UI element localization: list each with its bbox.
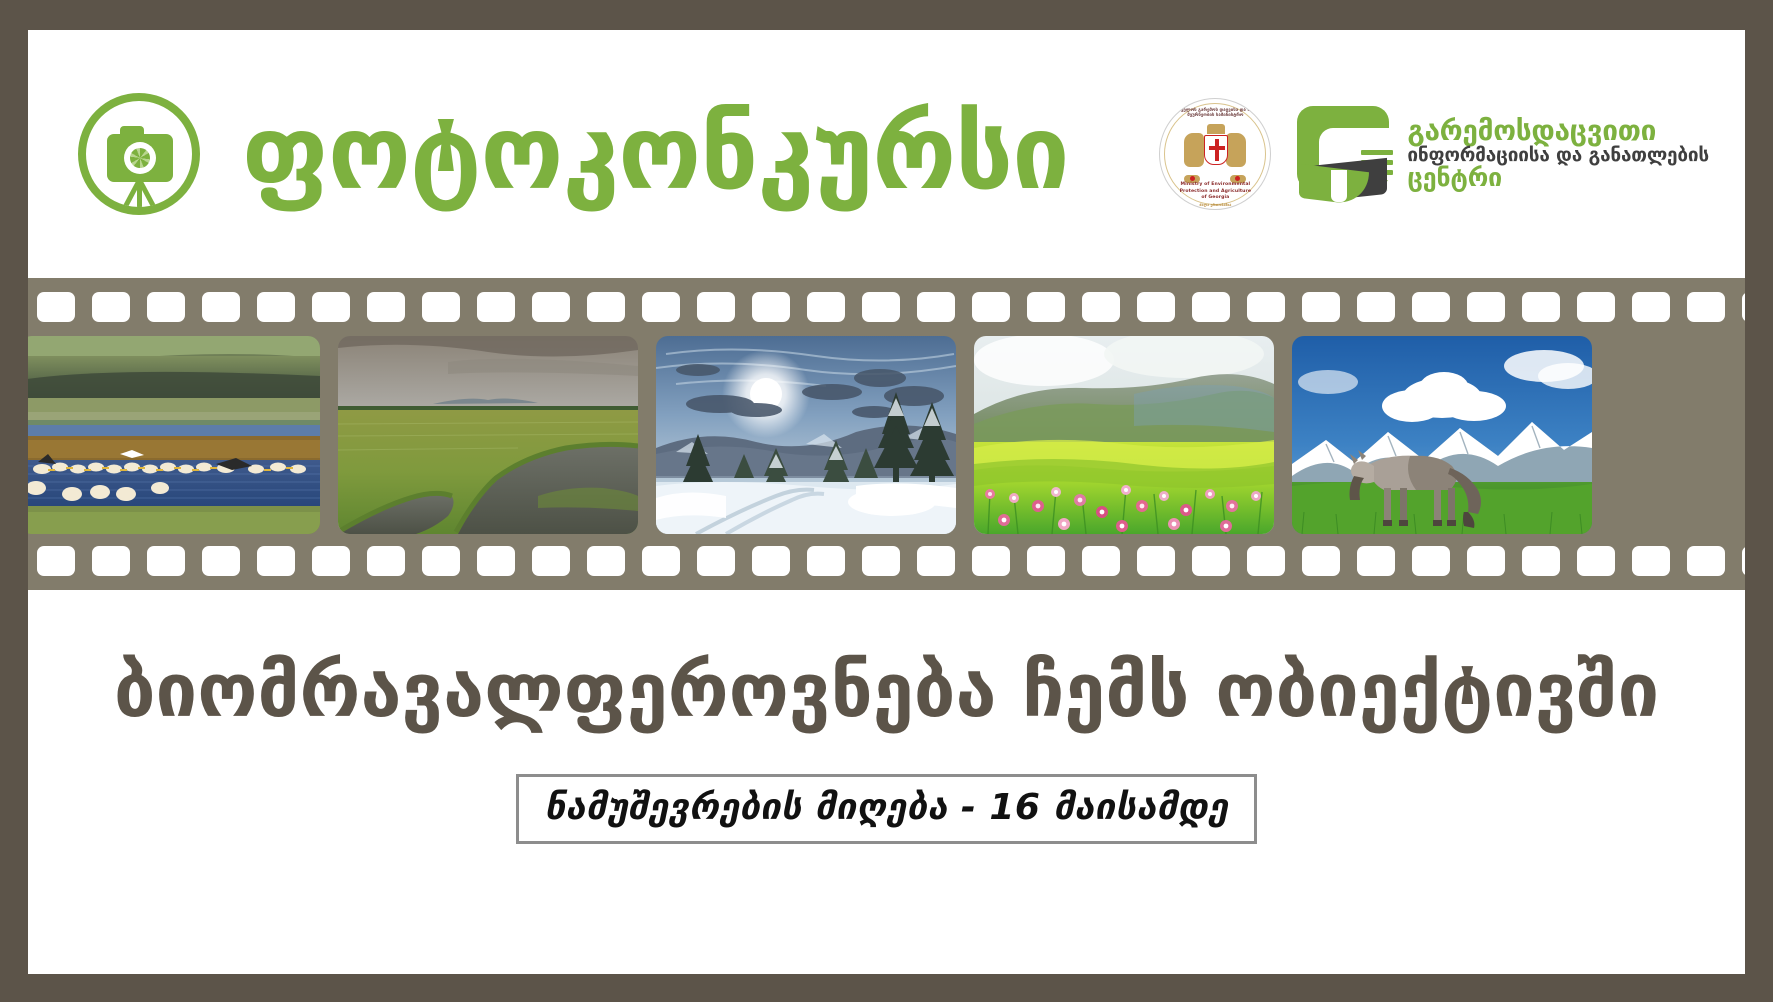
- perforation-bottom-11: [587, 546, 625, 576]
- perforation-top-29: [1577, 292, 1615, 322]
- book-in-square-logo-icon: [1297, 106, 1395, 202]
- perforation-top-5: [257, 292, 295, 322]
- perforation-bottom-5: [257, 546, 295, 576]
- perforation-top-26: [1412, 292, 1450, 322]
- perforation-bottom-10: [532, 546, 570, 576]
- photo-frame-pelicans-on-lake[interactable]: [28, 336, 320, 534]
- perforation-top-3: [147, 292, 185, 322]
- perforation-bottom-20: [1082, 546, 1120, 576]
- deadline-text: ნამუშევრების მიღება - 16 მაისამდე: [545, 787, 1229, 828]
- center-logo-line-3: ცენტრი: [1407, 165, 1709, 191]
- perforation-top-24: [1302, 292, 1340, 322]
- poster-canvas: ფოტოკონკურსი საქართველოს გარემოს დაცვისა…: [28, 30, 1745, 974]
- camera-on-tripod-icon: [78, 93, 200, 215]
- perforation-bottom-32: [1742, 546, 1745, 576]
- seal-english-text: Ministry of Environmental Protection and…: [1160, 182, 1270, 201]
- perforation-top-10: [532, 292, 570, 322]
- photo-frame-horse-grazing-snow-mountains[interactable]: [1292, 336, 1592, 534]
- perforation-bottom-19: [1027, 546, 1065, 576]
- environmental-center-logo: გარემოსდაცვითი ინფორმაციისა და განათლები…: [1297, 106, 1709, 202]
- georgia-ministry-seal-icon: საქართველოს გარემოს დაცვისა და სოფლის მე…: [1159, 98, 1271, 210]
- deadline-box: ნამუშევრების მიღება - 16 მაისამდე: [516, 774, 1258, 844]
- perforation-top-9: [477, 292, 515, 322]
- perforation-top-25: [1357, 292, 1395, 322]
- perforation-top-11: [587, 292, 625, 322]
- perforation-top-23: [1247, 292, 1285, 322]
- photo-frame-snowy-road-pine-forest[interactable]: [656, 336, 956, 534]
- perforation-top-15: [807, 292, 845, 322]
- photo-frame-wetland-river-meadow[interactable]: [338, 336, 638, 534]
- perforation-top-2: [92, 292, 130, 322]
- seal-cross-horizontal: [1209, 146, 1225, 150]
- perforation-bottom-27: [1467, 546, 1505, 576]
- perforation-bottom-29: [1577, 546, 1615, 576]
- perforation-bottom-22: [1192, 546, 1230, 576]
- seal-lion-right-icon: [1226, 133, 1246, 167]
- logo-book-spine: [1331, 170, 1347, 202]
- perforation-bottom-3: [147, 546, 185, 576]
- seal-cross-vertical: [1215, 139, 1219, 161]
- perforation-bottom-12: [642, 546, 680, 576]
- perforation-bottom-28: [1522, 546, 1560, 576]
- perforation-bottom-24: [1302, 546, 1340, 576]
- center-logo-line-1: გარემოსდაცვითი: [1407, 117, 1709, 146]
- perforation-top-12: [642, 292, 680, 322]
- center-logo-text: გარემოსდაცვითი ინფორმაციისა და განათლები…: [1407, 117, 1709, 190]
- perforation-top-1: [37, 292, 75, 322]
- perforation-top-8: [422, 292, 460, 322]
- perforation-bottom-13: [697, 546, 735, 576]
- perforation-top-32: [1742, 292, 1745, 322]
- perforation-bottom-9: [477, 546, 515, 576]
- poster-header: ფოტოკონკურსი საქართველოს გარემოს დაცვისა…: [28, 30, 1745, 278]
- perforation-bottom-21: [1137, 546, 1175, 576]
- perforation-bottom-7: [367, 546, 405, 576]
- perforation-top-19: [1027, 292, 1065, 322]
- perforation-bottom-18: [972, 546, 1010, 576]
- poster-bottom: ბიომრავალფეროვნება ჩემს ობიექტივში ნამუშ…: [28, 590, 1745, 974]
- seal-shield-icon: [1204, 135, 1228, 165]
- perforation-top-13: [697, 292, 735, 322]
- seal-crown-icon: [1207, 124, 1225, 134]
- perforation-bottom-15: [807, 546, 845, 576]
- seal-ka-top-text: საქართველოს გარემოს დაცვისა და სოფლის მე…: [1160, 108, 1270, 118]
- perforation-top-7: [367, 292, 405, 322]
- perforation-bottom-16: [862, 546, 900, 576]
- seal-ka-bottom-text: ძალა ერთობაშია: [1160, 203, 1270, 207]
- perforation-top-14: [752, 292, 790, 322]
- filmstrip-perforations-bottom: [28, 546, 1745, 576]
- perforation-bottom-8: [422, 546, 460, 576]
- logo-bar-1: [1361, 150, 1393, 155]
- seal-en-line3: of Georgia: [1160, 195, 1270, 201]
- tripod-leg-center: [137, 180, 142, 213]
- perforation-top-17: [917, 292, 955, 322]
- perforation-bottom-17: [917, 546, 955, 576]
- headline-text: ბიომრავალფეროვნება ჩემს ობიექტივში: [114, 654, 1659, 728]
- perforation-top-21: [1137, 292, 1175, 322]
- perforation-top-20: [1082, 292, 1120, 322]
- perforation-top-30: [1632, 292, 1670, 322]
- perforation-bottom-31: [1687, 546, 1725, 576]
- filmstrip-perforations-top: [28, 292, 1745, 322]
- perforation-bottom-4: [202, 546, 240, 576]
- perforation-top-31: [1687, 292, 1725, 322]
- perforation-top-22: [1192, 292, 1230, 322]
- filmstrip: [28, 278, 1745, 590]
- perforation-top-27: [1467, 292, 1505, 322]
- perforation-bottom-23: [1247, 546, 1285, 576]
- perforation-bottom-26: [1412, 546, 1450, 576]
- photo-frame-alpine-flower-meadow[interactable]: [974, 336, 1274, 534]
- filmstrip-frames: [28, 336, 1745, 534]
- perforation-bottom-1: [37, 546, 75, 576]
- perforation-bottom-30: [1632, 546, 1670, 576]
- poster-root: ფოტოკონკურსი საქართველოს გარემოს დაცვისა…: [0, 0, 1773, 1002]
- perforation-top-4: [202, 292, 240, 322]
- seal-lion-left-icon: [1184, 133, 1204, 167]
- perforation-bottom-6: [312, 546, 350, 576]
- camera-aperture-icon: [130, 148, 150, 168]
- perforation-top-6: [312, 292, 350, 322]
- perforation-top-28: [1522, 292, 1560, 322]
- perforation-top-16: [862, 292, 900, 322]
- perforation-bottom-14: [752, 546, 790, 576]
- page-title: ფოტოკონკურსი: [242, 103, 1069, 205]
- perforation-bottom-2: [92, 546, 130, 576]
- logo-group: საქართველოს გარემოს დაცვისა და სოფლის მე…: [1159, 98, 1709, 210]
- perforation-top-18: [972, 292, 1010, 322]
- perforation-bottom-25: [1357, 546, 1395, 576]
